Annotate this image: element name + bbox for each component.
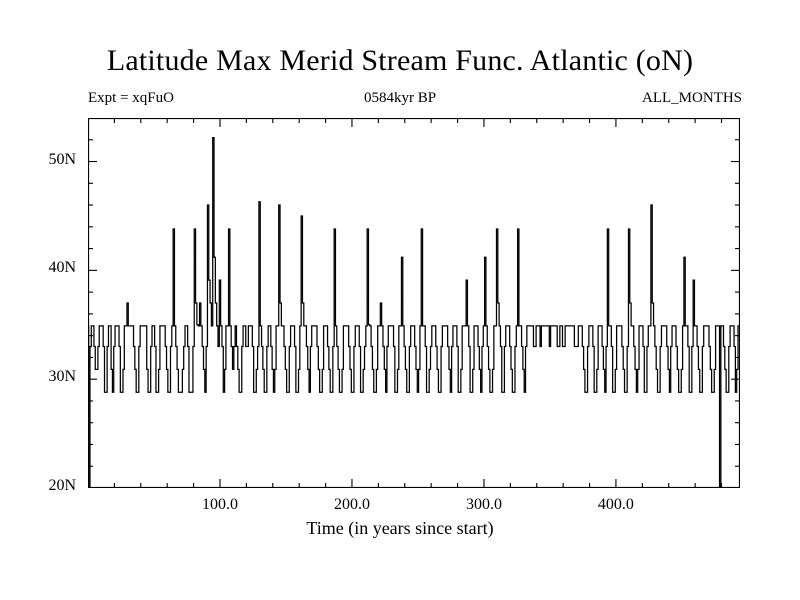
months-label: ALL_MONTHS [642, 90, 742, 107]
axis-ticks [88, 118, 740, 488]
plot-svg [88, 118, 740, 488]
x-tick-label: 400.0 [556, 496, 676, 514]
y-tick-label: 50N [16, 151, 76, 169]
data-series-line [88, 138, 740, 488]
plot-area [88, 118, 740, 488]
y-tick-label: 30N [16, 368, 76, 386]
y-tick-label: 40N [16, 259, 76, 277]
x-tick-label: 300.0 [424, 496, 544, 514]
x-axis-title: Time (in years since start) [0, 518, 800, 539]
x-tick-label: 100.0 [160, 496, 280, 514]
y-tick-label: 20N [16, 477, 76, 495]
page-title: Latitude Max Merid Stream Func. Atlantic… [0, 44, 800, 78]
plot-frame [89, 119, 740, 488]
chart-page: Latitude Max Merid Stream Func. Atlantic… [0, 0, 800, 600]
x-tick-label: 200.0 [292, 496, 412, 514]
